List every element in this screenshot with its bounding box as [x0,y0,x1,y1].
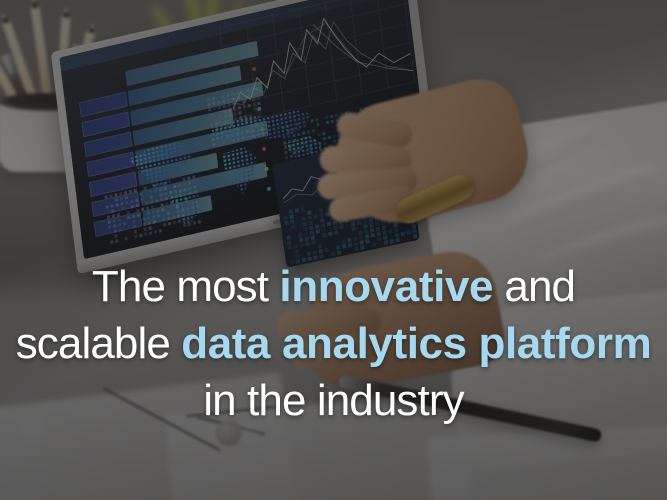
headline-container: The most innovative and scalable data an… [0,258,667,429]
headline-segment-accent-innovative: innovative [279,262,493,311]
headline-segment-regular: in the industry [203,376,463,425]
headline-segment-accent-platform: data analytics platform [181,319,651,368]
page-title: The most innovative and scalable data an… [12,258,655,429]
hero-banner: The most innovative and scalable data an… [0,0,667,500]
headline-segment-regular: The most [92,262,280,311]
